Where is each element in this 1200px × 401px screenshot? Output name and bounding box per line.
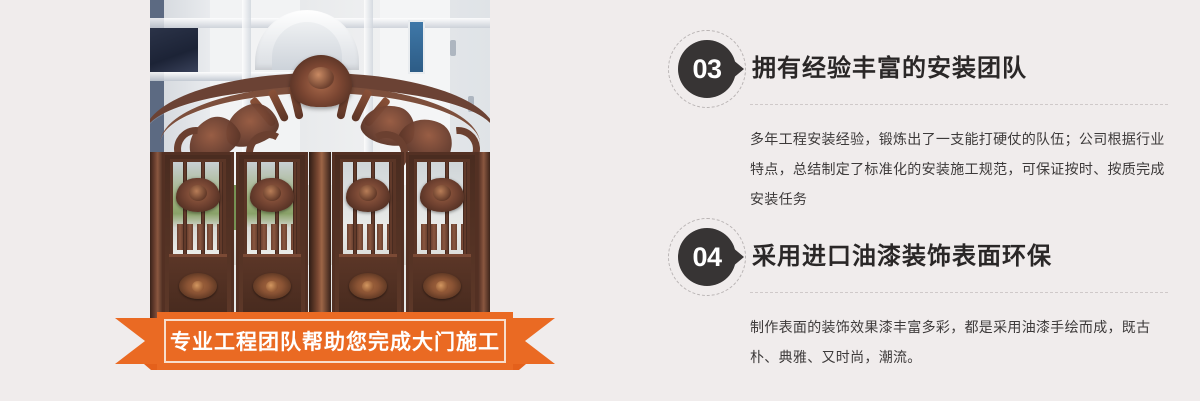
- ribbon-body: 专业工程团队帮助您完成大门施工: [157, 312, 513, 370]
- badge-pointer-icon: [732, 59, 744, 79]
- feature-badge: 04: [668, 218, 746, 296]
- panel-window: [244, 159, 300, 259]
- panel-base: [243, 254, 301, 315]
- badge-number: 03: [692, 56, 721, 83]
- feature-heading: 拥有经验丰富的安装团队: [752, 48, 1027, 83]
- crown-medallion: [290, 55, 352, 107]
- base-rosette: [423, 273, 461, 299]
- feature-divider: [750, 292, 1168, 293]
- wall-lamp-1: [450, 40, 456, 56]
- feature-divider: [750, 104, 1168, 105]
- panel-window: [170, 159, 226, 259]
- badge-pointer-icon: [732, 247, 744, 267]
- photo-scene: [150, 0, 490, 322]
- base-rosette: [253, 273, 291, 299]
- panel-window: [414, 159, 470, 259]
- gate-panel: [236, 152, 308, 322]
- gate-panels: [150, 152, 490, 322]
- gate-panel: [406, 152, 478, 322]
- feature-body: 多年工程安装经验，锻炼出了一支能打硬仗的队伍；公司根据行业特点，总结制定了标准化…: [750, 125, 1170, 215]
- base-rosette: [349, 273, 387, 299]
- feature-badge: 03: [668, 30, 746, 108]
- feature-list: 03 拥有经验丰富的安装团队 多年工程安装经验，锻炼出了一支能打硬仗的队伍；公司…: [660, 0, 1200, 401]
- feature-body: 制作表面的装饰效果漆丰富多彩，都是采用油漆手绘而成，既古朴、典雅、又时尚，潮流。: [750, 313, 1170, 373]
- feature-heading: 采用进口油漆装饰表面环保: [752, 236, 1052, 271]
- baluster-row: [177, 224, 219, 250]
- base-rosette: [179, 273, 217, 299]
- baluster-row: [421, 224, 463, 250]
- panel-medallion: [250, 178, 294, 212]
- panel-medallion: [176, 178, 220, 212]
- badge-circle: 04: [678, 228, 736, 286]
- badge-number: 04: [692, 244, 721, 271]
- ribbon-caption: 专业工程团队帮助您完成大门施工: [157, 312, 513, 370]
- panel-medallion: [420, 178, 464, 212]
- gate-post-right: [476, 152, 490, 322]
- panel-medallion: [346, 178, 390, 212]
- panel-base: [339, 254, 397, 315]
- panel-window: [340, 159, 396, 259]
- page-root: 专业工程团队帮助您完成大门施工 03 拥有经验丰富的安装团队 多年工程安装经验，…: [0, 0, 1200, 401]
- gate-panel: [162, 152, 234, 322]
- badge-circle: 03: [678, 40, 736, 98]
- baluster-row: [251, 224, 293, 250]
- gate-post-center: [309, 152, 331, 322]
- gate-panel: [332, 152, 404, 322]
- gate-crown: [150, 55, 490, 165]
- gate-photo: [150, 0, 490, 322]
- caption-ribbon: 专业工程团队帮助您完成大门施工: [115, 312, 555, 370]
- panel-base: [413, 254, 471, 315]
- panel-base: [169, 254, 227, 315]
- baluster-row: [347, 224, 389, 250]
